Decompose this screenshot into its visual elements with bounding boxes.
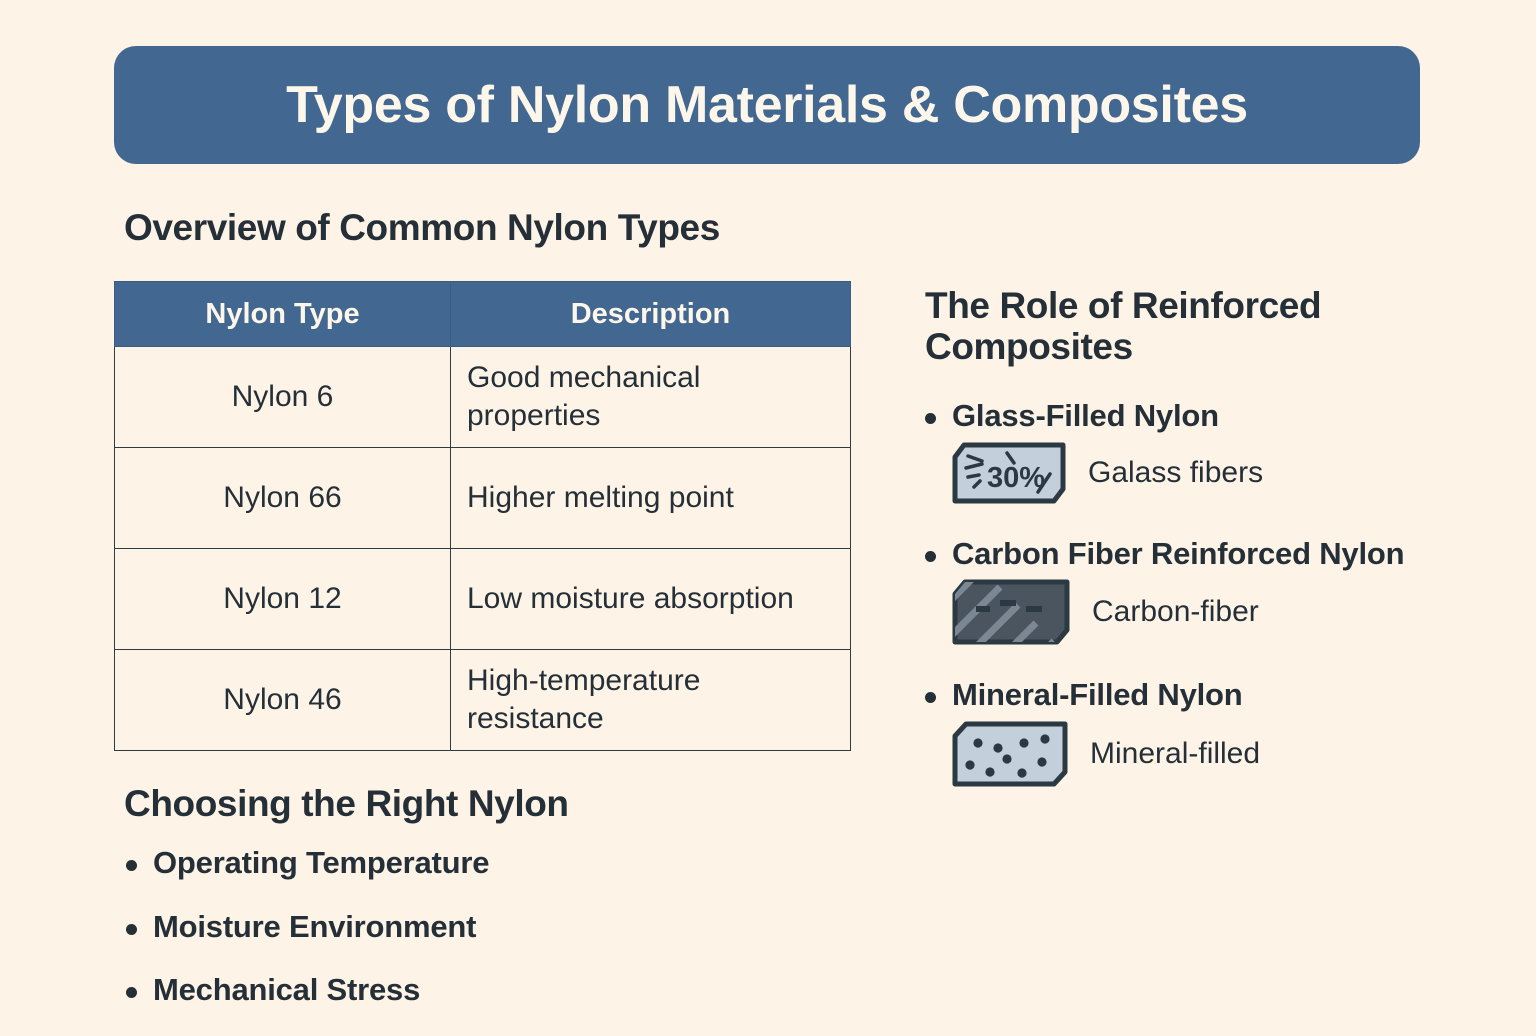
bullet-dot-icon	[126, 924, 137, 935]
list-item: Moisture Environment	[126, 909, 766, 945]
table-row: Nylon 6 Good mechanical properties	[115, 347, 851, 448]
bullet-dot-icon	[925, 413, 936, 424]
mineral-filled-block-icon	[952, 721, 1068, 787]
choosing-section-heading: Choosing the Right Nylon	[124, 783, 569, 824]
cell-description: High-temperature resistance	[451, 650, 851, 751]
reinforced-composites-list: Glass-Filled Nylon 30% Galass fibers	[925, 398, 1415, 805]
cell-description: Higher melting point	[451, 448, 851, 549]
glass-fiber-block-icon: 30%	[952, 442, 1066, 504]
column-header-nylon-type: Nylon Type	[115, 282, 451, 347]
cell-description: Good mechanical properties	[451, 347, 851, 448]
list-item: Mechanical Stress	[126, 972, 766, 1008]
list-item-label: Mineral-Filled Nylon	[952, 677, 1243, 713]
cell-description: Low moisture absorption	[451, 549, 851, 650]
nylon-types-table: Nylon Type Description Nylon 6 Good mech…	[114, 281, 851, 751]
list-item: Mineral-Filled Nylon Mineral-filled	[925, 677, 1415, 787]
list-item-label: Mechanical Stress	[153, 972, 420, 1008]
table-row: Nylon 46 High-temperature resistance	[115, 650, 851, 751]
composite-caption: Carbon-fiber	[1092, 595, 1259, 629]
cell-nylon-type: Nylon 6	[115, 347, 451, 448]
list-item: Carbon Fiber Reinforced Nylon	[925, 536, 1415, 646]
bullet-dot-icon	[925, 551, 936, 562]
column-header-description: Description	[451, 282, 851, 347]
list-item-label: Carbon Fiber Reinforced Nylon	[952, 536, 1404, 572]
cell-nylon-type: Nylon 66	[115, 448, 451, 549]
composite-caption: Mineral-filled	[1090, 737, 1260, 771]
choosing-criteria-list: Operating Temperature Moisture Environme…	[126, 845, 766, 1036]
table-header-row: Nylon Type Description	[115, 282, 851, 347]
list-item: Operating Temperature	[126, 845, 766, 881]
list-item-label: Moisture Environment	[153, 909, 476, 945]
table-row: Nylon 12 Low moisture absorption	[115, 549, 851, 650]
composite-caption: Galass fibers	[1088, 456, 1263, 490]
bullet-dot-icon	[126, 860, 137, 871]
list-item: Glass-Filled Nylon 30% Galass fibers	[925, 398, 1415, 504]
list-item-label: Glass-Filled Nylon	[952, 398, 1219, 434]
carbon-fiber-block-icon	[952, 579, 1070, 645]
page-title: Types of Nylon Materials & Composites	[286, 75, 1248, 135]
cell-nylon-type: Nylon 46	[115, 650, 451, 751]
glass-fiber-percent-label: 30%	[987, 462, 1045, 494]
bullet-dot-icon	[925, 692, 936, 703]
composites-section-heading: The Role of Reinforced Composites	[925, 285, 1400, 368]
title-banner: Types of Nylon Materials & Composites	[114, 46, 1420, 164]
overview-section-heading: Overview of Common Nylon Types	[124, 207, 720, 248]
table-row: Nylon 66 Higher melting point	[115, 448, 851, 549]
bullet-dot-icon	[126, 987, 137, 998]
cell-nylon-type: Nylon 12	[115, 549, 451, 650]
list-item-label: Operating Temperature	[153, 845, 489, 881]
